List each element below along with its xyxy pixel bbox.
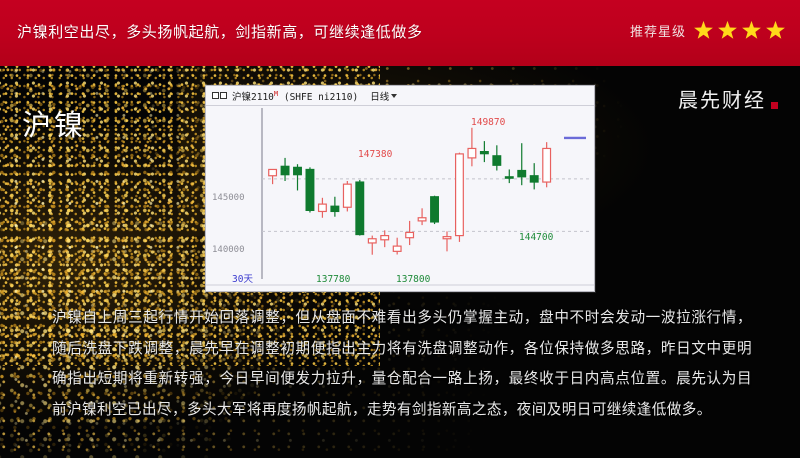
candle bbox=[343, 181, 351, 211]
annotation-low-137780: 137780 bbox=[316, 274, 350, 285]
chevron-down-icon[interactable] bbox=[391, 94, 397, 98]
candle bbox=[368, 236, 376, 255]
annotation-high-149870: 149870 bbox=[471, 117, 505, 128]
candle bbox=[543, 142, 551, 187]
candle bbox=[356, 180, 364, 236]
y-axis-label-0: 145000 bbox=[212, 193, 245, 203]
candle bbox=[294, 164, 302, 190]
annotation-high-147380: 147380 bbox=[358, 149, 392, 160]
article-body: 沪镍自上周三起行情开始回落调整，但从盘面不难看出多头仍掌握主动，盘中不时会发动一… bbox=[52, 303, 752, 425]
annotation-last-144700: 144700 bbox=[519, 232, 553, 243]
candle bbox=[456, 153, 464, 242]
candle bbox=[443, 231, 451, 251]
star-icon bbox=[765, 20, 786, 41]
brand-dot-icon bbox=[771, 102, 778, 109]
candle bbox=[393, 238, 401, 255]
candle bbox=[530, 163, 538, 189]
star-icon bbox=[717, 20, 738, 41]
candle bbox=[319, 198, 327, 218]
candle bbox=[468, 128, 476, 167]
range-label: 30天 bbox=[232, 271, 253, 285]
annotation-low-137800: 137800 bbox=[396, 274, 430, 285]
headline-text: 沪镍利空出尽，多头扬帆起航，剑指新高，可继续逢低做多 bbox=[17, 21, 423, 42]
candle bbox=[481, 141, 489, 162]
candle bbox=[518, 143, 526, 185]
candle bbox=[431, 196, 439, 224]
star-icon bbox=[693, 20, 714, 41]
candlestick-svg bbox=[206, 106, 594, 291]
chart-toolbar[interactable]: 沪镍2110M (SHFE ni2110) 日线 bbox=[206, 86, 594, 106]
header-banner: 沪镍利空出尽，多头扬帆起航，剑指新高，可继续逢低做多 推荐星级 bbox=[0, 0, 800, 66]
rating-label: 推荐星级 bbox=[630, 21, 686, 40]
candle bbox=[418, 208, 426, 225]
candle bbox=[269, 169, 277, 184]
two-squares-icon bbox=[212, 92, 227, 99]
star-icon bbox=[741, 20, 762, 41]
chart-plot-area[interactable]: 145000 140000 30天 149870 147380 144700 1… bbox=[206, 106, 594, 291]
candle bbox=[331, 197, 339, 217]
candle bbox=[493, 145, 501, 170]
y-axis-label-1: 140000 bbox=[212, 245, 245, 255]
page-title: 沪镍 bbox=[22, 102, 86, 144]
candle bbox=[381, 230, 389, 247]
brand-logo: 晨先财经 bbox=[678, 84, 778, 113]
candle bbox=[406, 221, 414, 245]
chart-period-label: 日线 bbox=[370, 89, 389, 103]
candlestick-chart-panel[interactable]: 沪镍2110M (SHFE ni2110) 日线 145000 140000 3… bbox=[205, 85, 595, 292]
star-rating bbox=[693, 20, 786, 41]
chart-period-selector[interactable]: 日线 bbox=[370, 89, 397, 103]
brand-name: 晨先财经 bbox=[678, 84, 766, 113]
candle bbox=[306, 167, 314, 212]
rating-group: 推荐星级 bbox=[630, 20, 786, 41]
chart-symbol: 沪镍2110M (SHFE ni2110) bbox=[232, 89, 358, 103]
candle bbox=[505, 169, 513, 183]
candle bbox=[281, 158, 289, 181]
poster-canvas: 沪镍利空出尽，多头扬帆起航，剑指新高，可继续逢低做多 推荐星级 沪镍 晨先财经 … bbox=[0, 0, 800, 458]
